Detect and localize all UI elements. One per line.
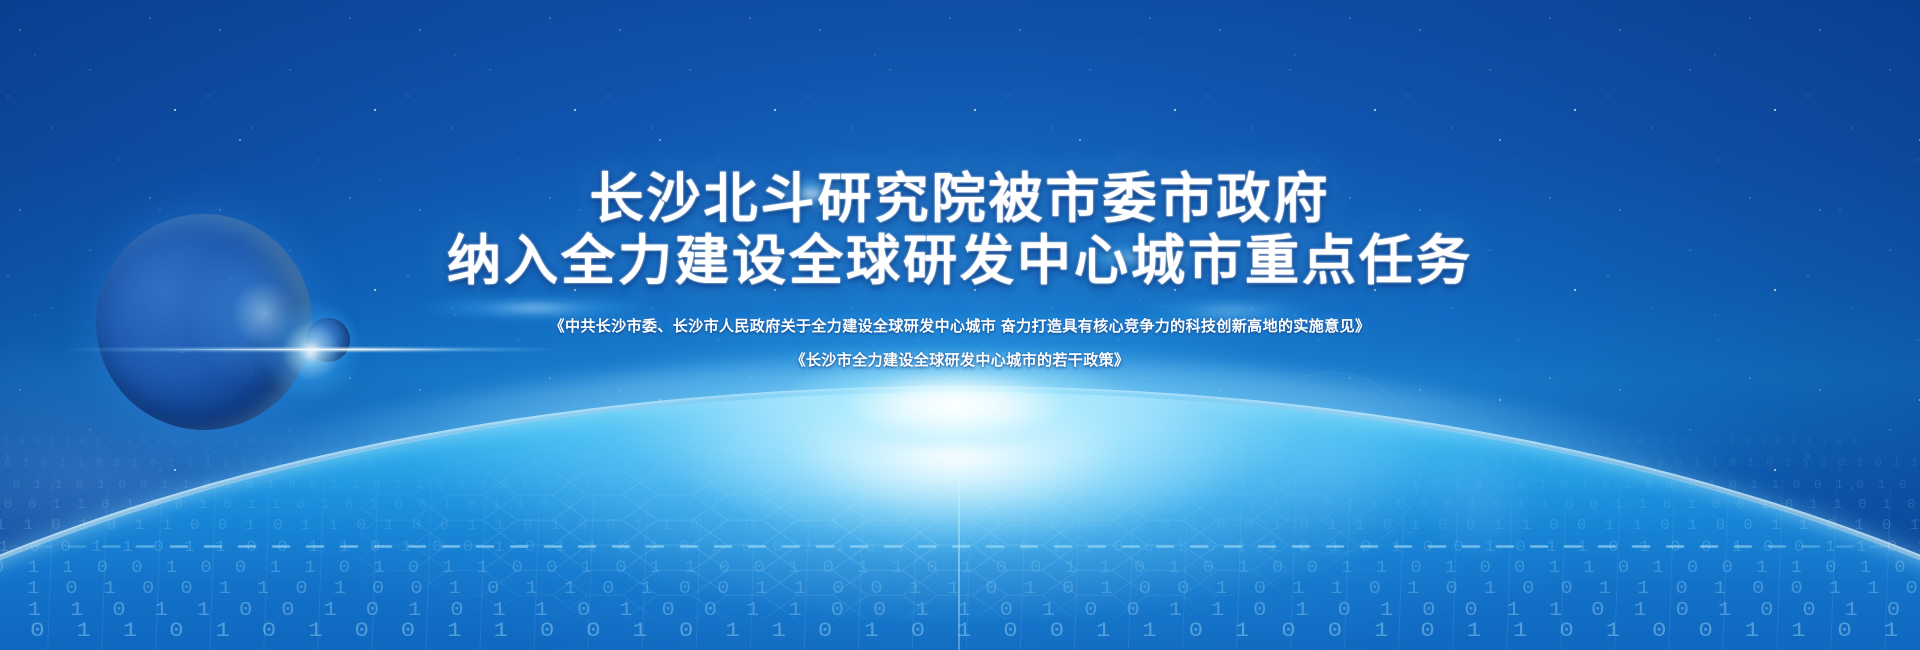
banner-subtitle-2: 《长沙市全力建设全球研发中心城市的若干政策》: [791, 348, 1130, 374]
banner-subtitle-1: 《中共长沙市委、长沙市人民政府关于全力建设全球研发中心城市 奋力打造具有核心竞争…: [550, 314, 1371, 340]
banner-root: 0 1 0 1 1 0 1 0 0 1 1 0 1 0 1 0 0 1 1 1 …: [0, 0, 1920, 650]
banner-content: 长沙北斗研究院被市委市政府 纳入全力建设全球研发中心城市重点任务 《中共长沙市委…: [0, 0, 1920, 650]
banner-title-line-2: 纳入全力建设全球研发中心城市重点任务: [447, 230, 1473, 292]
banner-title-line-1: 长沙北斗研究院被市委市政府: [590, 168, 1331, 230]
